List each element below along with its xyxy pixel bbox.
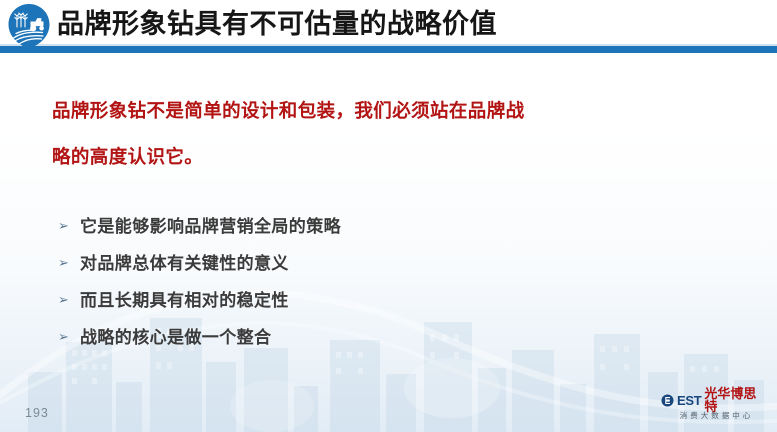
slide-header: 品牌形象钻具有不可估量的战略价值 (0, 0, 777, 56)
footer-logo-latin: EST (677, 394, 701, 407)
lead-line-1: 品牌形象钻不是简单的设计和包装，我们必须站在品牌战 (52, 88, 652, 134)
list-item-label: 而且长期具有相对的稳定性 (80, 287, 289, 314)
chevron-right-icon: ➢ (58, 324, 80, 351)
page-number: 193 (25, 406, 49, 420)
slide-canvas: 品牌形象钻具有不可估量的战略价值 品牌形象钻不是简单的设计和包装，我们必须站在品… (0, 0, 777, 432)
list-item: ➢ 而且长期具有相对的稳定性 (58, 287, 578, 322)
list-item-label: 战略的核心是做一个整合 (80, 324, 271, 351)
list-item-label: 对品牌总体有关键性的意义 (80, 250, 289, 277)
footer-logo-subtitle: 消费大数据中心 (661, 411, 769, 421)
best-circle-e-icon (661, 394, 674, 407)
header-divider (0, 46, 777, 53)
footer-brand-logo: EST 光华博思特 消费大数据中心 (661, 388, 769, 424)
footer-logo-main-row: EST 光华博思特 (661, 392, 769, 409)
list-item-label: 它是能够影响品牌营销全局的策略 (80, 213, 341, 240)
page-title: 品牌形象钻具有不可估量的战略价值 (57, 7, 497, 41)
footer-logo-chinese: 光华博思特 (704, 387, 769, 413)
chevron-right-icon: ➢ (58, 250, 80, 277)
chevron-right-icon: ➢ (58, 213, 80, 240)
agriculture-pin-logo-icon (7, 3, 51, 54)
list-item: ➢ 对品牌总体有关键性的意义 (58, 250, 578, 285)
list-item: ➢ 战略的核心是做一个整合 (58, 324, 578, 359)
lead-line-2: 略的高度认识它。 (52, 134, 652, 180)
list-item: ➢ 它是能够影响品牌营销全局的策略 (58, 213, 578, 248)
lead-paragraph: 品牌形象钻不是简单的设计和包装，我们必须站在品牌战 略的高度认识它。 (52, 88, 652, 180)
bullet-list: ➢ 它是能够影响品牌营销全局的策略 ➢ 对品牌总体有关键性的意义 ➢ 而且长期具… (58, 213, 578, 361)
chevron-right-icon: ➢ (58, 287, 80, 314)
